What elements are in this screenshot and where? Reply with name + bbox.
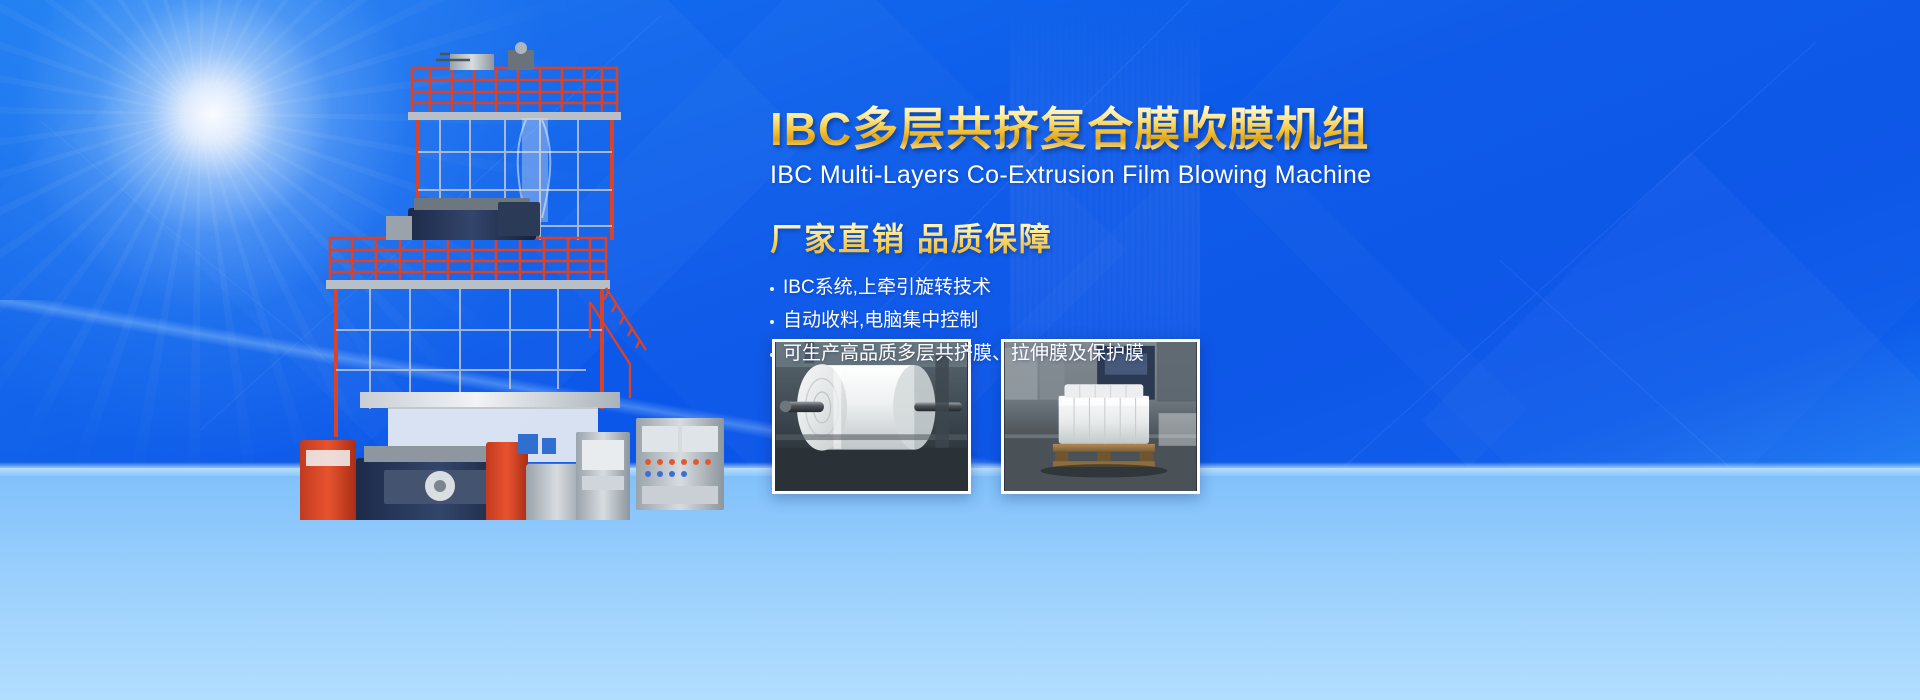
horizon-band [0, 468, 1920, 700]
feature-item: IBC系统,上牵引旋转技术 [770, 278, 1530, 297]
banner-headline: IBC多层共挤复合膜吹膜机组 [770, 105, 1530, 153]
bullet-dot-icon [770, 320, 774, 324]
bullet-dot-icon [770, 287, 774, 291]
feature-item: 可生产高品质多层共挤膜、拉伸膜及保护膜 [770, 344, 1530, 363]
promotional-banner: IBC多层共挤复合膜吹膜机组 IBC Multi-Layers Co-Extru… [0, 0, 1920, 700]
feature-list: IBC系统,上牵引旋转技术 自动收料,电脑集中控制 可生产高品质多层共挤膜、拉伸… [770, 278, 1530, 363]
banner-copy: IBC多层共挤复合膜吹膜机组 IBC Multi-Layers Co-Extru… [770, 105, 1530, 377]
film-blowing-machine-photo [290, 40, 730, 520]
feature-label: IBC系统,上牵引旋转技术 [783, 278, 991, 297]
feature-label: 可生产高品质多层共挤膜、拉伸膜及保护膜 [783, 344, 1144, 363]
bullet-dot-icon [770, 353, 774, 357]
feature-label: 自动收料,电脑集中控制 [783, 311, 978, 330]
banner-subheadline: IBC Multi-Layers Co-Extrusion Film Blowi… [770, 161, 1530, 190]
banner-tagline: 厂家直销 品质保障 [770, 214, 1530, 260]
feature-item: 自动收料,电脑集中控制 [770, 311, 1530, 330]
